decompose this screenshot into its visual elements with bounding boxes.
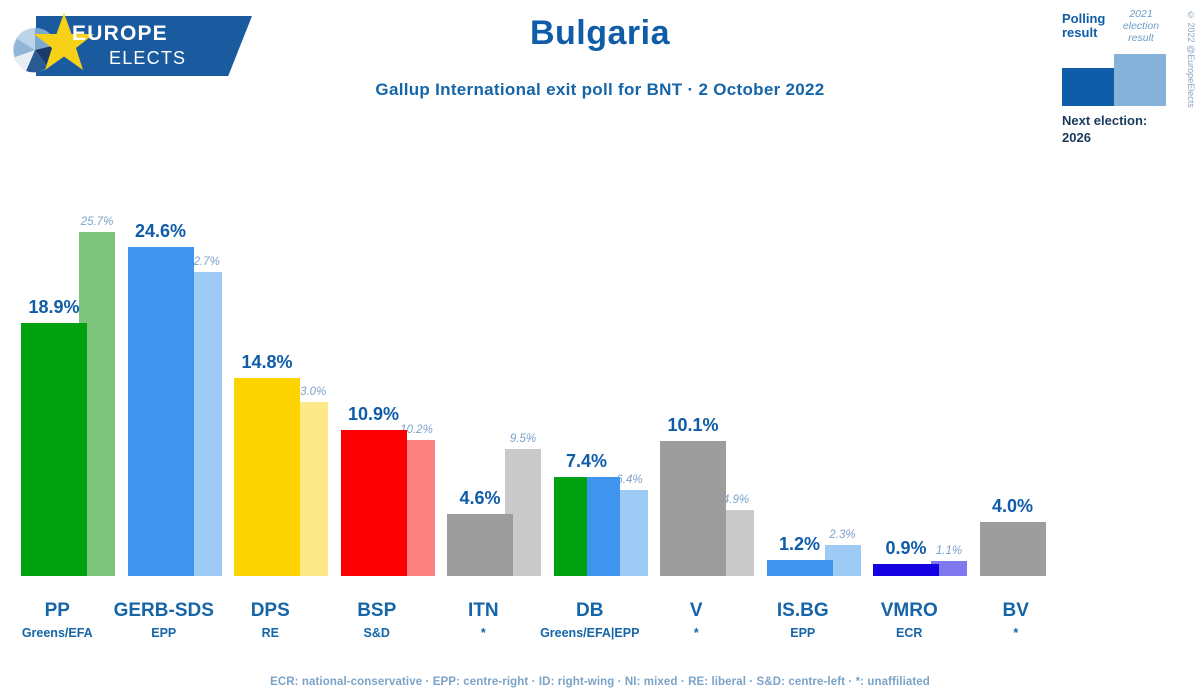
x-axis-tick-gerb-sds: GERB-SDSEPP [106,600,223,641]
bar-polling-result [234,378,300,576]
party-eu-group: EPP [106,625,223,641]
party-eu-group: * [425,625,542,641]
bar-label-polling: 10.9% [331,404,417,425]
bar-polling-result [21,323,87,576]
party-name: ITN [425,600,542,622]
party-name: GERB-SDS [106,600,223,622]
party-eu-group: RE [212,625,329,641]
bar-label-polling: 14.8% [224,352,310,373]
bar-polling-result [128,247,194,576]
bar-polling-result [873,564,939,576]
bar-label-polling: 10.1% [650,415,736,436]
bar-group: 13.0%14.8% [234,170,341,576]
bar-group: 2.3%1.2% [767,170,874,576]
party-name: DB [532,600,649,622]
party-eu-group: * [958,625,1075,641]
legend-label-previous: 2021 election result [1116,8,1166,44]
bar-label-previous: 9.5% [493,433,553,445]
party-eu-group: EPP [745,625,862,641]
party-eu-group: ECR [851,625,968,641]
bar-segment [341,430,407,576]
bar-label-polling: 1.2% [757,534,843,555]
party-name: BSP [319,600,436,622]
x-axis-tick-bv: BV* [958,600,1075,641]
bar-segment [128,247,194,576]
bar-label-polling: 0.9% [863,538,949,559]
legend-swatches [1062,54,1166,106]
party-name: PP [0,600,116,622]
bar-segment [234,378,300,576]
legend-swatch-polling [1062,68,1114,106]
party-name: V [638,600,755,622]
party-eu-group: Greens/EFA [0,625,116,641]
party-name: VMRO [851,600,968,622]
bar-group: 1.1%0.9% [873,170,980,576]
x-axis-tick-v: V* [638,600,755,641]
x-axis-tick-dps: DPSRE [212,600,329,641]
bar-segment [554,477,587,576]
party-eu-group: Greens/EFA|EPP [532,625,649,641]
page-subtitle: Gallup International exit poll for BNT ·… [0,80,1200,100]
bar-segment [587,477,620,576]
x-axis-labels: PPGreens/EFAGERB-SDSEPPDPSREBSPS&DITN*DB… [0,600,1200,656]
bar-segment [447,514,513,576]
party-name: DPS [212,600,329,622]
bar-polling-result [980,522,1046,576]
x-axis-tick-bsp: BSPS&D [319,600,436,641]
legend: Polling result 2021 election result Next… [1062,8,1166,106]
bar-polling-result [341,430,407,576]
party-eu-group: * [638,625,755,641]
bar-label-polling: 4.6% [437,488,523,509]
party-name: BV [958,600,1075,622]
bar-label-polling: 4.0% [970,496,1056,517]
bar-group: 6.4%7.4% [554,170,661,576]
bar-label-polling: 24.6% [118,221,204,242]
x-axis-tick-db: DBGreens/EFA|EPP [532,600,649,641]
bar-chart-plot-area: 25.7%18.9%22.7%24.6%13.0%14.8%10.2%10.9%… [0,170,1200,576]
bar-label-polling: 18.9% [11,297,97,318]
next-election-label: Next election: [1062,113,1147,128]
party-name: IS.BG [745,600,862,622]
bar-group: 10.2%10.9% [341,170,448,576]
footnote: ECR: national-conservative · EPP: centre… [0,676,1200,688]
bar-polling-result [447,514,513,576]
bar-polling-result [660,441,726,576]
x-axis-tick-is-bg: IS.BGEPP [745,600,862,641]
next-election-year: 2026 [1062,129,1172,146]
bar-segment [660,441,726,576]
bar-group: 9.5%4.6% [447,170,554,576]
page-title: Bulgaria [0,14,1200,53]
bar-group: 4.0% [980,170,1087,576]
legend-labels: Polling result 2021 election result [1062,8,1166,54]
x-axis-tick-pp: PPGreens/EFA [0,600,116,641]
bar-segment [873,564,939,576]
bar-polling-result [767,560,833,576]
copyright-notice: © 2022 @EuropeElects [1186,10,1196,108]
party-eu-group: S&D [319,625,436,641]
next-election-info: Next election: 2026 [1062,112,1172,146]
bar-segment [767,560,833,576]
x-axis-tick-vmro: VMROECR [851,600,968,641]
legend-label-polling: Polling result [1062,12,1114,40]
x-axis-tick-itn: ITN* [425,600,542,641]
bar-polling-result [554,477,620,576]
bar-segment [980,522,1046,576]
bar-segment [21,323,87,576]
chart-canvas: EUROPE ELECTS Bulgaria Gallup Internatio… [0,0,1200,696]
bar-label-polling: 7.4% [544,451,630,472]
bar-group: 4.9%10.1% [660,170,767,576]
bar-group: 25.7%18.9% [21,170,128,576]
legend-swatch-previous [1114,54,1166,106]
bar-group: 22.7%24.6% [128,170,235,576]
